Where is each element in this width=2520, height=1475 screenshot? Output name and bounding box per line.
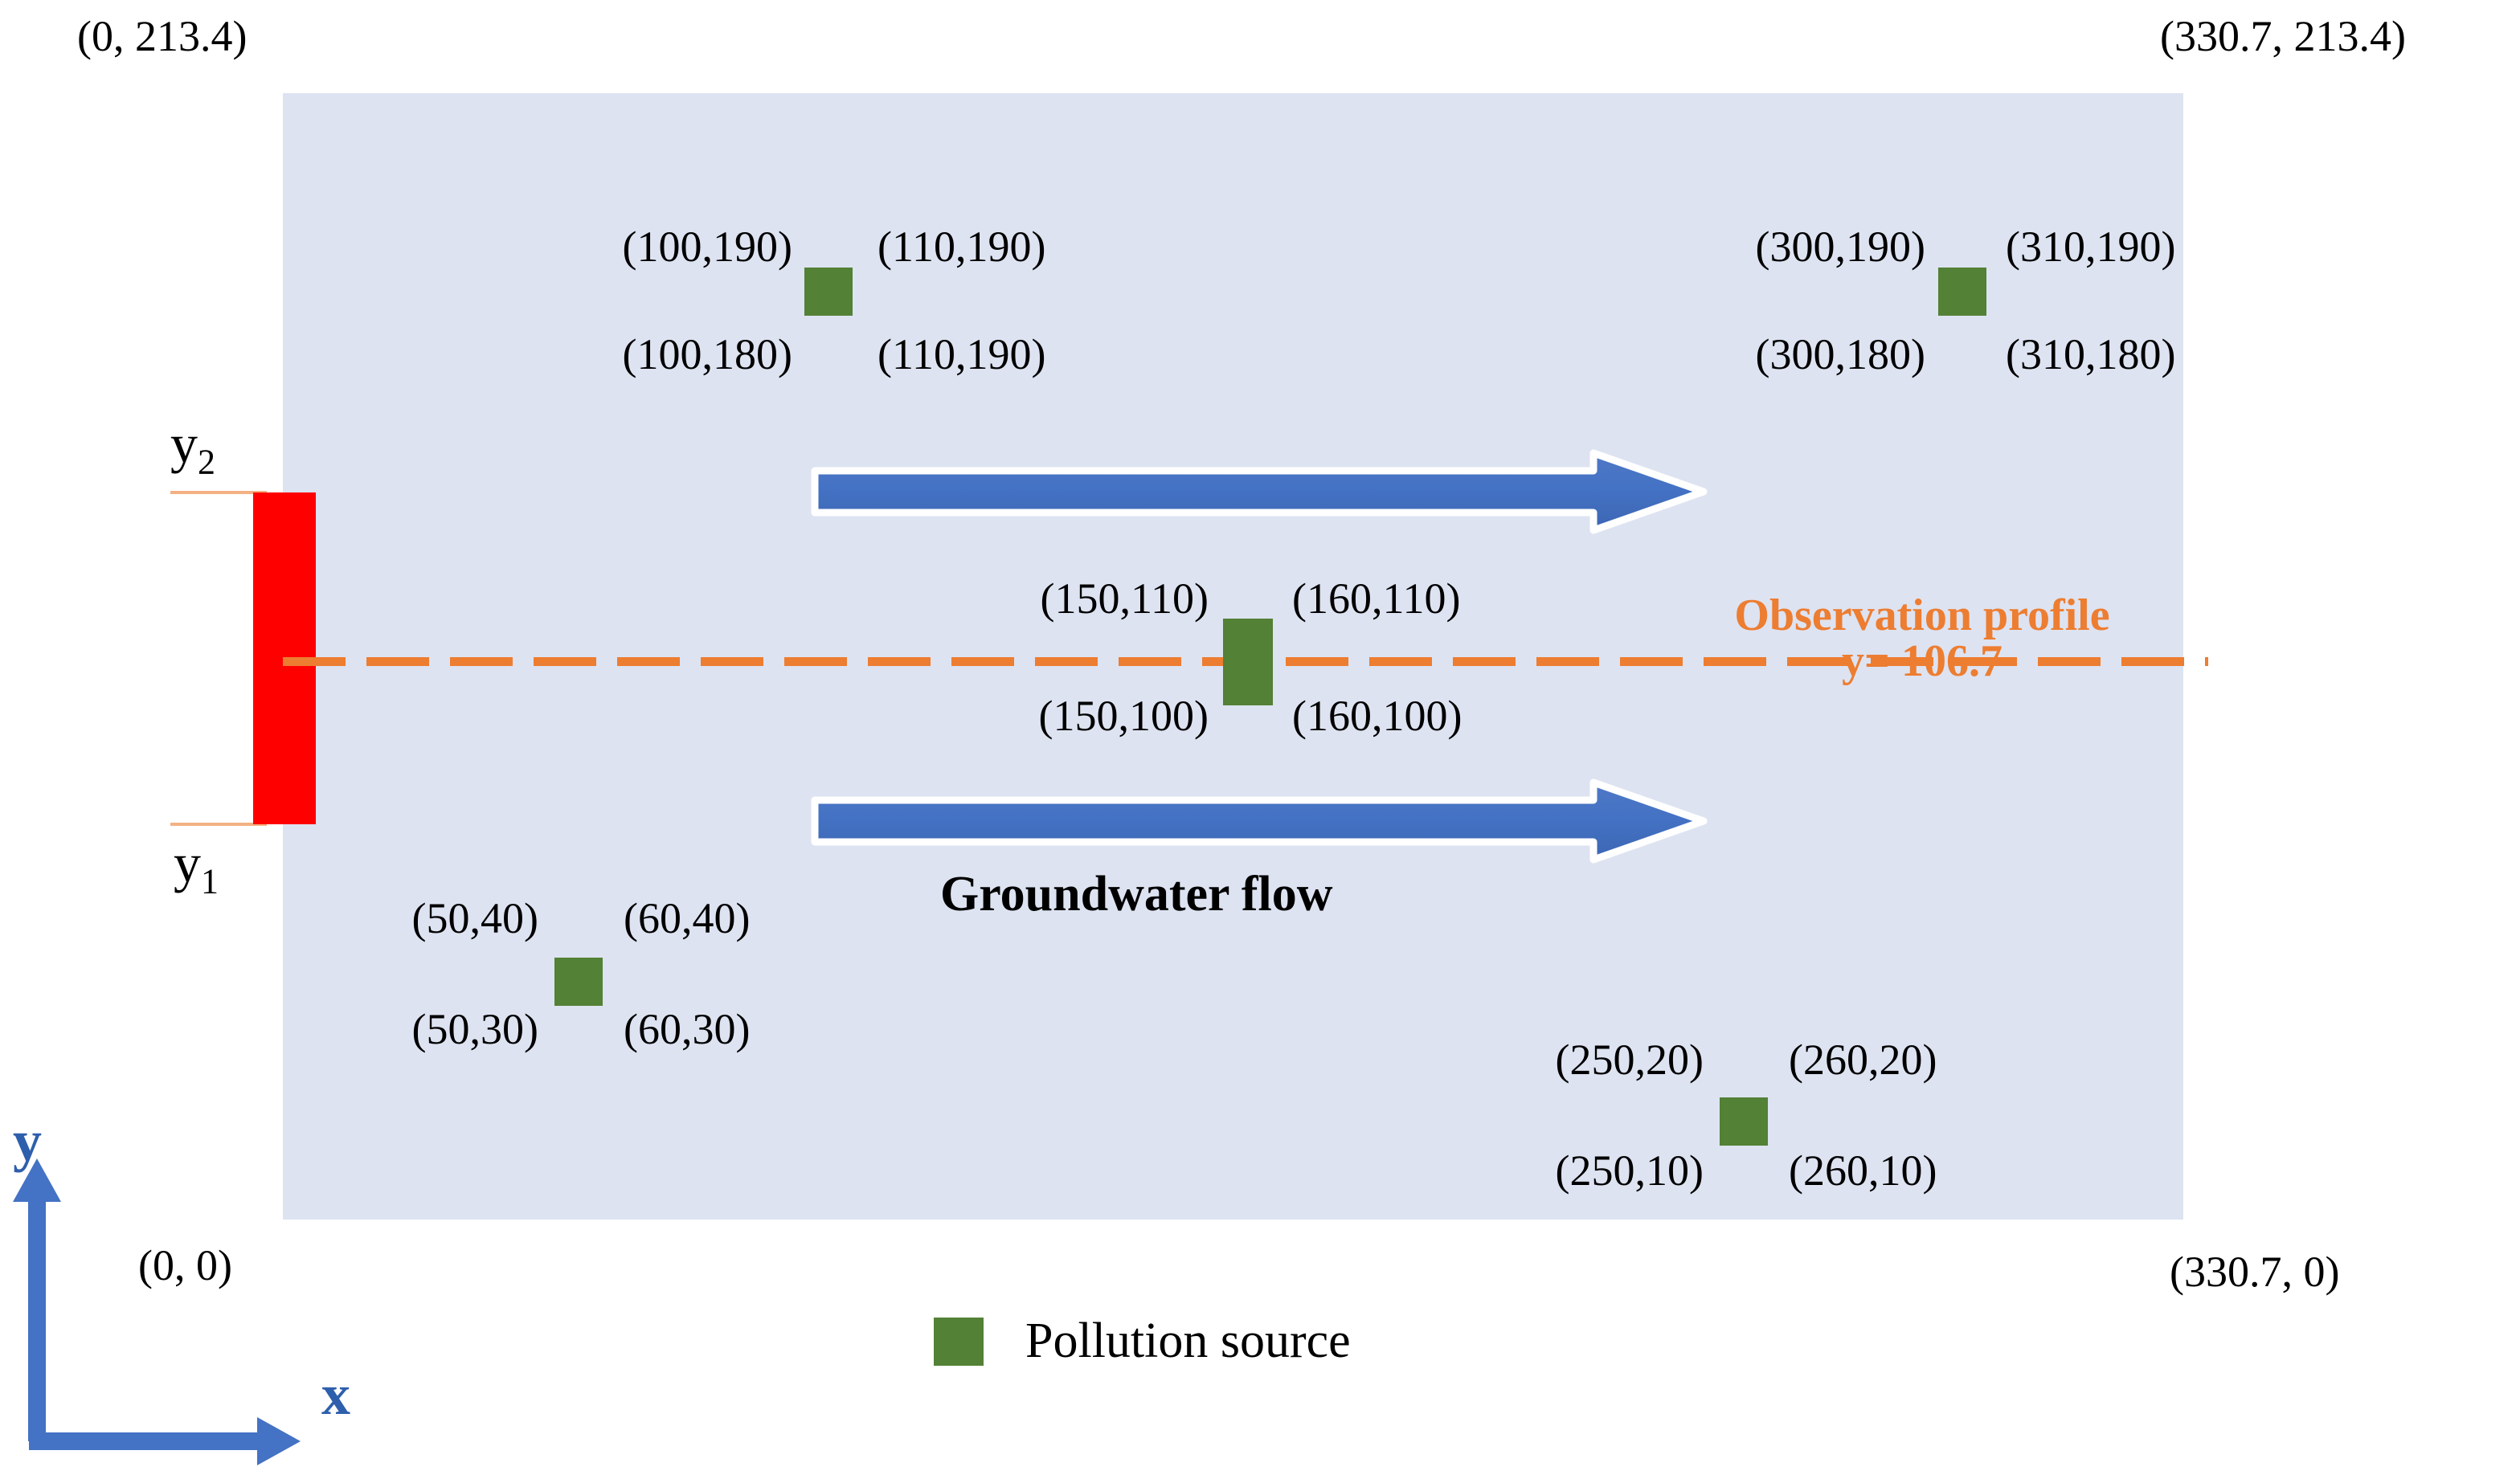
- figure-canvas: (0, 213.4) (330.7, 213.4) (0, 0) (330.7,…: [0, 0, 2520, 1475]
- source-bottom-left-label-br: (60,30): [624, 1007, 750, 1051]
- source-top-left-label-bl: (100,180): [471, 333, 792, 376]
- observation-profile-line-start-dash: [305, 657, 346, 666]
- source-bottom-left-label-bl: (50,30): [225, 1007, 538, 1051]
- source-bottom-left-label-tr: (60,40): [624, 897, 750, 940]
- boundary-label-y1-subscript: 1: [201, 862, 219, 901]
- observation-profile-value: y= 106.7: [1641, 639, 2203, 684]
- boundary-label-y2: y2: [170, 416, 215, 480]
- boundary-label-y1-text: y: [174, 832, 201, 893]
- source-middle-label-tr: (160,110): [1292, 577, 1460, 620]
- source-top-left-label-tl: (100,190): [471, 225, 792, 268]
- pollution-source-square-top-left: [804, 268, 853, 316]
- boundary-tick-lower: [170, 823, 267, 826]
- source-top-right-label-tl: (300,190): [1604, 225, 1925, 268]
- axis-label-x: x: [321, 1366, 350, 1424]
- boundary-label-y2-text: y: [170, 413, 198, 474]
- pollution-source-square-middle: [1223, 619, 1273, 705]
- coordinate-axes: [0, 1138, 450, 1475]
- source-bottom-right-label-tl: (250,20): [1382, 1038, 1704, 1081]
- observation-profile-label: Observation profile y= 106.7: [1641, 593, 2203, 684]
- groundwater-flow-arrow-lower: [810, 778, 1708, 864]
- corner-label-top-right: (330.7, 213.4): [2160, 14, 2406, 58]
- source-bottom-right-label-br: (260,10): [1789, 1149, 1937, 1192]
- axis-label-y: y: [13, 1112, 42, 1170]
- groundwater-flow-label: Groundwater flow: [940, 866, 1333, 923]
- source-top-left-label-tr: (110,190): [877, 225, 1045, 268]
- source-bottom-right-label-tr: (260,20): [1789, 1038, 1937, 1081]
- observation-profile-title: Observation profile: [1734, 590, 2109, 640]
- legend-swatch-pollution-source: [934, 1318, 984, 1366]
- source-top-right-label-br: (310,180): [2006, 333, 2175, 376]
- source-bottom-right-label-bl: (250,10): [1382, 1149, 1704, 1192]
- source-middle-label-br: (160,100): [1292, 694, 1462, 737]
- legend: Pollution source: [934, 1313, 1351, 1370]
- source-top-left-label-br: (110,190): [877, 333, 1045, 376]
- source-middle-label-tl: (150,110): [887, 577, 1209, 620]
- boundary-label-y1: y1: [174, 836, 219, 900]
- source-middle-label-bl: (150,100): [887, 694, 1209, 737]
- pollution-source-square-bottom-left: [554, 958, 603, 1006]
- pollution-source-square-top-right: [1938, 268, 1986, 316]
- groundwater-flow-arrow-upper: [810, 448, 1708, 535]
- legend-label-pollution-source: Pollution source: [1025, 1313, 1351, 1370]
- corner-label-top-left: (0, 213.4): [77, 14, 247, 58]
- boundary-tick-upper: [170, 491, 267, 494]
- pollution-source-square-bottom-right: [1720, 1097, 1768, 1146]
- source-top-right-label-tr: (310,190): [2006, 225, 2175, 268]
- source-top-right-label-bl: (300,180): [1604, 333, 1925, 376]
- source-bottom-left-label-tl: (50,40): [225, 897, 538, 940]
- boundary-label-y2-subscript: 2: [198, 443, 215, 482]
- corner-label-bottom-right: (330.7, 0): [2170, 1250, 2339, 1293]
